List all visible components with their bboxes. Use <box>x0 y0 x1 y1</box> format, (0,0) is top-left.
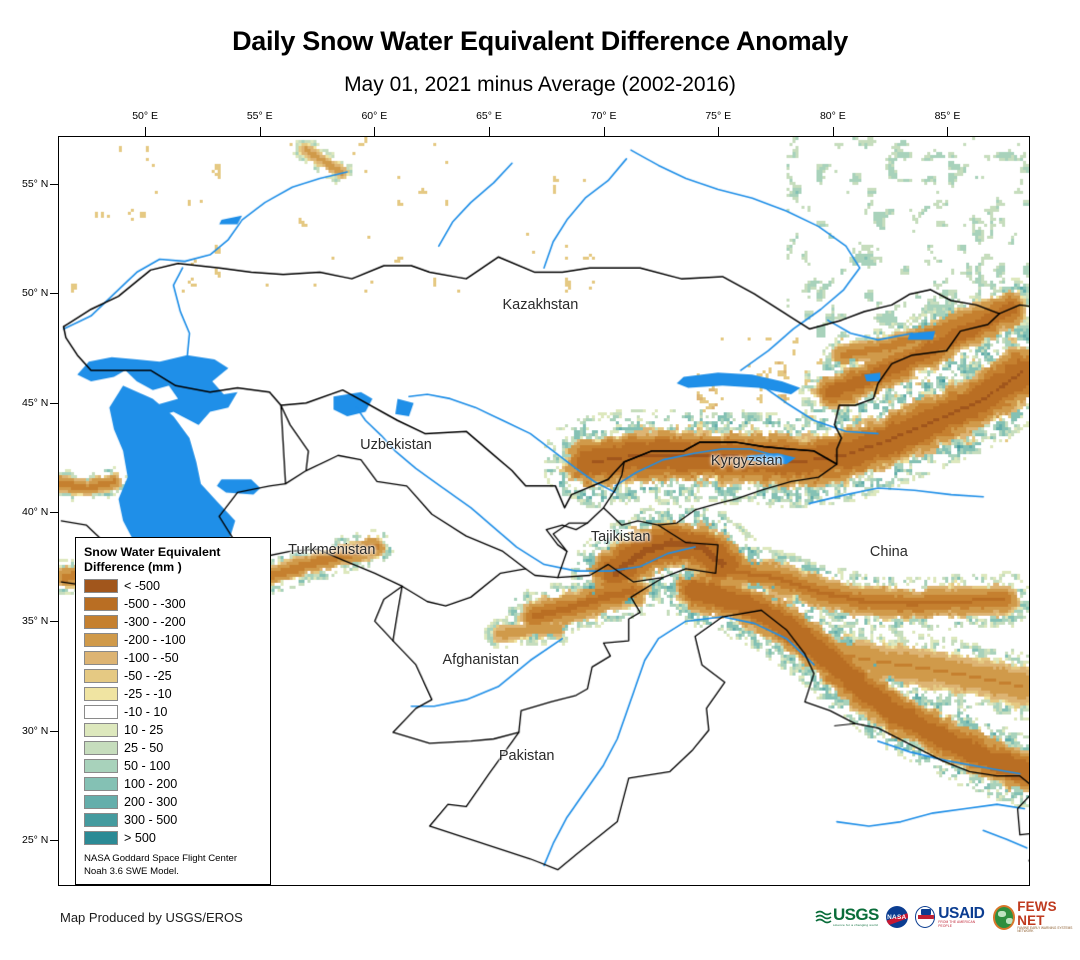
lat-label-40: 40° N <box>22 506 48 518</box>
page-subtitle: May 01, 2021 minus Average (2002-2016) <box>0 73 1080 97</box>
lon-tick-60 <box>374 127 375 136</box>
legend-label: -300 - -200 <box>124 616 186 629</box>
legend-row: -25 - -10 <box>84 685 262 703</box>
lat-label-25: 25° N <box>22 834 48 846</box>
lon-tick-80 <box>833 127 834 136</box>
lon-label-75: 75° E <box>705 110 731 122</box>
legend-swatch <box>84 615 118 629</box>
lat-label-55: 55° N <box>22 178 48 190</box>
usaid-seal-icon <box>915 906 935 928</box>
legend-swatch <box>84 651 118 665</box>
legend-label: -500 - -300 <box>124 598 186 611</box>
legend-title-line1: Snow Water Equivalent <box>84 545 262 560</box>
fews-wordmark: FEWS NET <box>1017 900 1080 927</box>
legend-title: Snow Water Equivalent Difference (mm ) <box>84 545 262 574</box>
lon-tick-85 <box>947 127 948 136</box>
legend-class-list: < -500-500 - -300-300 - -200-200 - -100-… <box>84 577 262 847</box>
lon-label-70: 70° E <box>591 110 617 122</box>
legend-row: -500 - -300 <box>84 595 262 613</box>
nasa-wordmark: NASA <box>887 914 906 921</box>
legend-row: 100 - 200 <box>84 775 262 793</box>
legend-swatch <box>84 633 118 647</box>
legend-label: 200 - 300 <box>124 796 177 809</box>
legend-label: < -500 <box>124 580 160 593</box>
lon-label-60: 60° E <box>361 110 387 122</box>
lat-label-30: 30° N <box>22 725 48 737</box>
legend-swatch <box>84 705 118 719</box>
legend-row: 200 - 300 <box>84 793 262 811</box>
fews-globe-icon <box>993 905 1015 930</box>
usaid-tagline: FROM THE AMERICAN PEOPLE <box>938 921 986 928</box>
legend-row: -200 - -100 <box>84 631 262 649</box>
usgs-wave-icon <box>815 909 832 926</box>
legend-label: 50 - 100 <box>124 760 170 773</box>
map-legend: Snow Water Equivalent Difference (mm ) <… <box>75 537 271 885</box>
legend-swatch <box>84 777 118 791</box>
legend-credit: NASA Goddard Space Flight Center Noah 3.… <box>84 853 262 878</box>
legend-row: -10 - 10 <box>84 703 262 721</box>
legend-row: < -500 <box>84 577 262 595</box>
legend-swatch <box>84 597 118 611</box>
legend-swatch <box>84 759 118 773</box>
lon-tick-75 <box>718 127 719 136</box>
legend-label: 25 - 50 <box>124 742 163 755</box>
lon-label-85: 85° E <box>935 110 961 122</box>
legend-row: 25 - 50 <box>84 739 262 757</box>
legend-row: > 500 <box>84 829 262 847</box>
lat-label-50: 50° N <box>22 287 48 299</box>
lon-label-65: 65° E <box>476 110 502 122</box>
page-title: Daily Snow Water Equivalent Difference A… <box>0 26 1080 57</box>
legend-row: -100 - -50 <box>84 649 262 667</box>
lat-label-35: 35° N <box>22 615 48 627</box>
agency-logos: USGS science for a changing world NASA U… <box>815 902 1080 932</box>
lon-tick-50 <box>145 127 146 136</box>
legend-title-line2: Difference (mm ) <box>84 560 262 575</box>
legend-swatch <box>84 687 118 701</box>
map-page: Daily Snow Water Equivalent Difference A… <box>0 0 1080 960</box>
legend-label: 300 - 500 <box>124 814 177 827</box>
legend-row: -300 - -200 <box>84 613 262 631</box>
legend-swatch <box>84 813 118 827</box>
lon-tick-65 <box>489 127 490 136</box>
legend-swatch <box>84 741 118 755</box>
lon-tick-70 <box>604 127 605 136</box>
legend-label: -10 - 10 <box>124 706 167 719</box>
nasa-logo[interactable]: NASA <box>886 904 908 930</box>
fews-tagline: FAMINE EARLY WARNING SYSTEMS NETWORK <box>1017 927 1080 933</box>
legend-label: -50 - -25 <box>124 670 172 683</box>
legend-label: -100 - -50 <box>124 652 179 665</box>
legend-credit-line2: Noah 3.6 SWE Model. <box>84 866 262 878</box>
producer-credit: Map Produced by USGS/EROS <box>60 910 243 925</box>
legend-row: 300 - 500 <box>84 811 262 829</box>
legend-label: -200 - -100 <box>124 634 186 647</box>
usaid-logo[interactable]: USAID FROM THE AMERICAN PEOPLE <box>915 904 986 930</box>
lon-label-55: 55° E <box>247 110 273 122</box>
legend-swatch <box>84 795 118 809</box>
legend-label: > 500 <box>124 832 156 845</box>
legend-row: -50 - -25 <box>84 667 262 685</box>
lon-label-50: 50° E <box>132 110 158 122</box>
lat-label-45: 45° N <box>22 397 48 409</box>
legend-label: -25 - -10 <box>124 688 172 701</box>
legend-swatch <box>84 579 118 593</box>
legend-label: 100 - 200 <box>124 778 177 791</box>
legend-label: 10 - 25 <box>124 724 163 737</box>
lon-label-80: 80° E <box>820 110 846 122</box>
nasa-meatball-icon: NASA <box>886 906 908 928</box>
legend-swatch <box>84 723 118 737</box>
usgs-logo[interactable]: USGS science for a changing world <box>815 904 879 930</box>
legend-swatch <box>84 669 118 683</box>
legend-row: 50 - 100 <box>84 757 262 775</box>
legend-row: 10 - 25 <box>84 721 262 739</box>
fews-net-logo[interactable]: FEWS NET FAMINE EARLY WARNING SYSTEMS NE… <box>993 904 1080 930</box>
legend-swatch <box>84 831 118 845</box>
usgs-wordmark: USGS <box>833 906 879 923</box>
usgs-tagline: science for a changing world <box>833 924 879 927</box>
usaid-wordmark: USAID <box>938 906 986 922</box>
lon-tick-55 <box>260 127 261 136</box>
legend-credit-line1: NASA Goddard Space Flight Center <box>84 853 262 865</box>
